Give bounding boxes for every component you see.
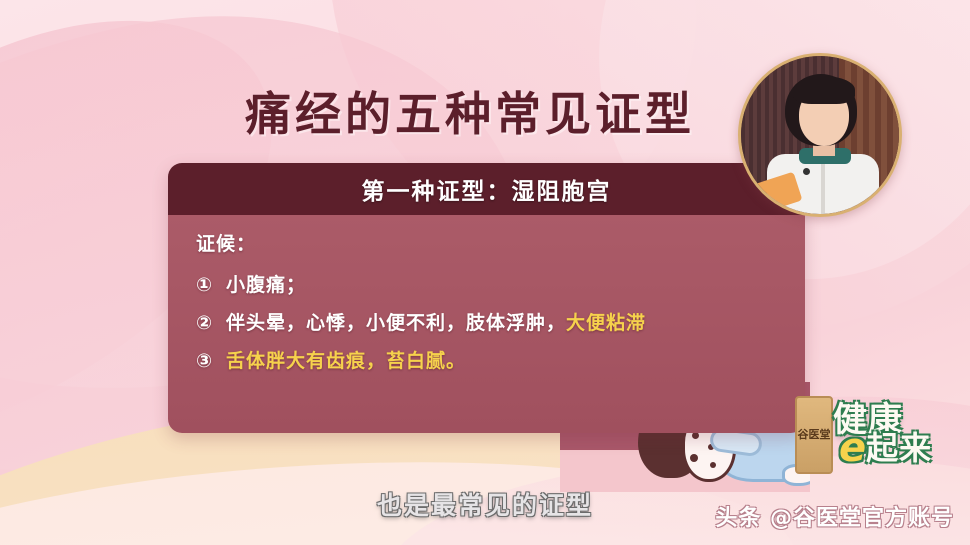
symptom-highlight-2: 大便粘滞 [566,308,646,335]
brand-logo-sub-row: e 起来 [839,428,932,468]
symptom-item-2: ② 伴头晕，心悸，小便不利，肢体浮肿， 大便粘滞 [196,308,805,335]
cartoon-face-dot-4 [710,462,716,468]
brand-logo: 谷医堂 健康 e 起来 [795,392,970,480]
cartoon-face-dot-1 [692,432,699,439]
symptom-number-3: ③ [196,350,226,372]
slide-canvas: 痛经的五种常见证型 第一种证型：湿阻胞宫 证候： ① 小腹痛； ② [0,0,970,545]
presenter-hair-front [793,76,855,104]
presenter-video-inset[interactable] [738,53,902,217]
symptom-text-1: 小腹痛； [226,270,306,297]
symptom-text-2: 伴头晕，心悸，小便不利，肢体浮肿， [226,308,566,335]
presenter-coat-seam [821,156,825,217]
brand-plaque: 谷医堂 [795,396,833,474]
cartoon-face-dot-3 [690,454,698,462]
symptom-number-1: ① [196,274,226,296]
card-header: 第一种证型：湿阻胞宫 [168,163,805,215]
card-header-title: 第一种证型：湿阻胞宫 [362,172,612,206]
symptom-number-2: ② [196,312,226,334]
symptom-item-3: ③ 舌体胖大有齿痕，苔白腻。 [196,346,805,373]
page-title: 痛经的五种常见证型 [245,78,695,144]
symptom-item-1: ① 小腹痛； [196,270,805,297]
brand-logo-e: e [839,428,866,468]
channel-watermark: 头条 @谷医堂官方账号 [715,500,954,532]
background-wave-7 [0,423,811,545]
cartoon-face-dot-2 [708,444,714,450]
brand-logo-qilai: 起来 [866,432,932,464]
symptoms-label: 证候： [196,229,256,256]
syndrome-card: 第一种证型：湿阻胞宫 证候： ① 小腹痛； ② 伴头晕，心悸，小便不利，肢体浮肿… [168,163,805,433]
card-body: 证候： ① 小腹痛； ② 伴头晕，心悸，小便不利，肢体浮肿， 大便粘滞 ③ 舌体… [168,215,805,433]
symptoms-label-row: 证候： [196,229,805,256]
symptom-highlight-3: 舌体胖大有齿痕，苔白腻。 [226,346,466,373]
presenter-microphone-icon [803,168,810,175]
